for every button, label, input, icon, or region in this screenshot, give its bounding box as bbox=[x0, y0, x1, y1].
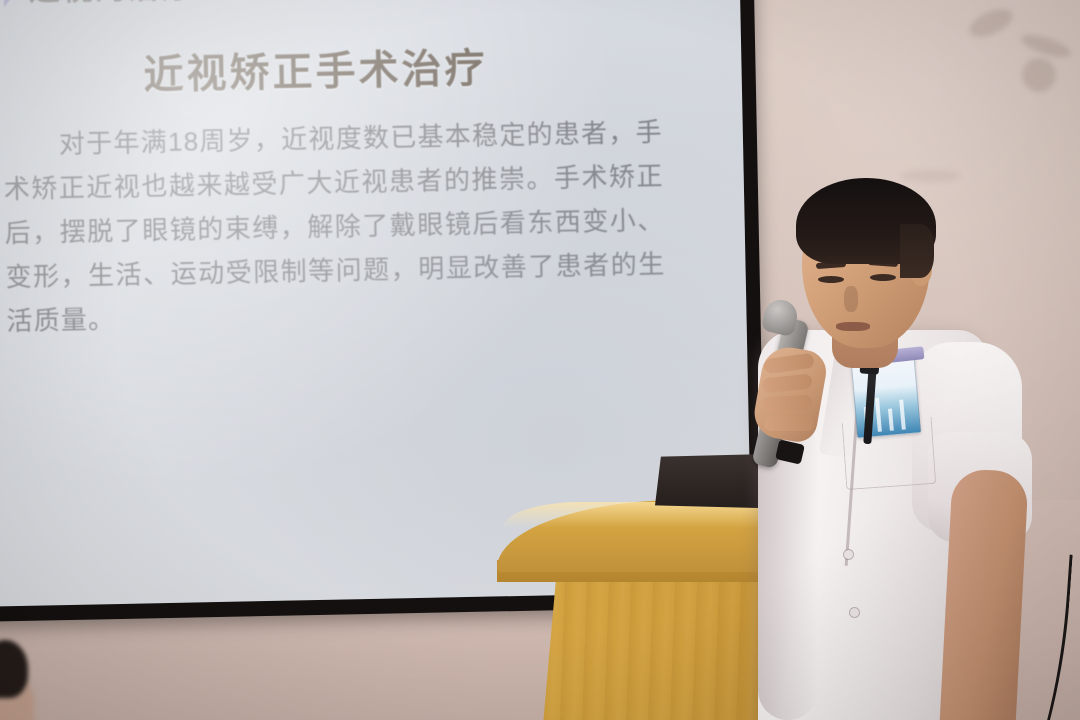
presenter-hair-side bbox=[900, 224, 934, 278]
double-chevron-icon bbox=[0, 0, 19, 7]
photo-scene: 近视的治疗 近视矫正手术治疗 对于年满18周岁，近视度数已基本稳定的患者，手术矫… bbox=[0, 0, 1080, 720]
presenter-finger bbox=[762, 395, 813, 413]
slide-title: 近视矫正手术治疗 bbox=[0, 32, 666, 104]
coat-button bbox=[850, 608, 859, 617]
presenter-eye bbox=[870, 274, 896, 281]
slide-header: 近视的治疗 bbox=[0, 0, 194, 11]
presenter-mouth bbox=[836, 322, 870, 331]
slide-body-text: 对于年满18周岁，近视度数已基本稳定的患者，手术矫正近视也越来越受广大近视患者的… bbox=[2, 110, 666, 343]
presenter-doctor bbox=[740, 170, 1080, 720]
presenter-finger bbox=[764, 416, 814, 431]
microphone-cable bbox=[926, 546, 1072, 720]
slide-header-label: 近视的治疗 bbox=[28, 0, 194, 10]
presenter-eye bbox=[818, 276, 844, 283]
wall-smudge bbox=[1019, 55, 1058, 94]
presenter-nose bbox=[844, 286, 858, 312]
wall-smudge bbox=[966, 4, 1017, 43]
coat-button bbox=[844, 550, 853, 559]
wall-smudge bbox=[1019, 30, 1073, 61]
